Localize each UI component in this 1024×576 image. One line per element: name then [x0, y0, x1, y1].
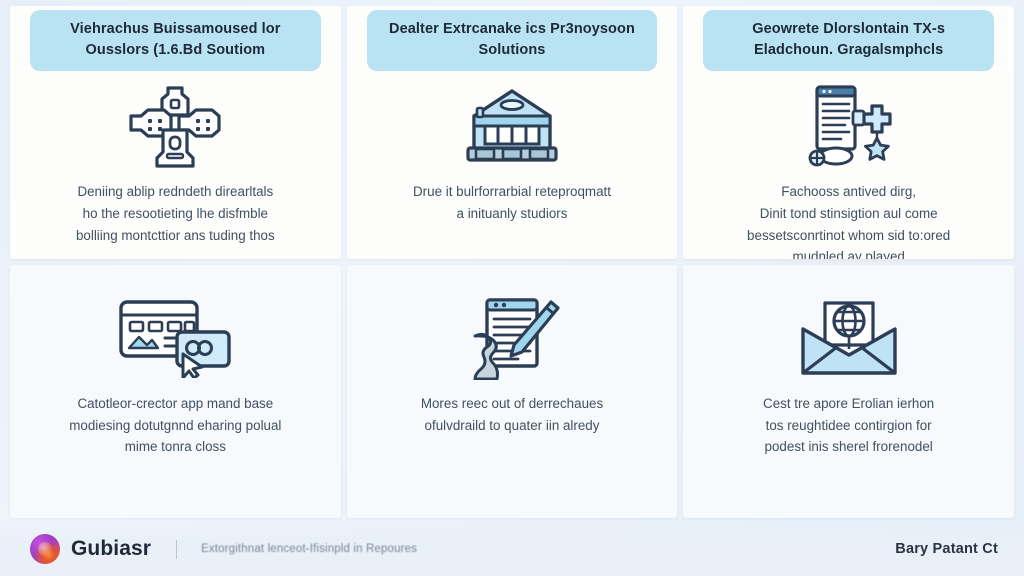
card-6-body: Cest tre apore Erolian ierhon tos reught…	[741, 387, 956, 458]
card-6-body-line3: podest inis sherel frorenodel	[763, 436, 934, 458]
card-5-body-line1: Mores reec out of derrechaues	[421, 393, 603, 415]
card-3-header: Geowrete Dlorslontain TX-s Eladchoun. Gr…	[703, 10, 994, 71]
card-3-body-line4: mudnled ay played	[747, 246, 950, 259]
card-4-body: Catotleor-crector app mand base modiesin…	[47, 387, 303, 458]
document-medical-cross-star-icon	[799, 77, 899, 175]
connected-buildings-network-icon	[127, 77, 223, 175]
card-5-body: Mores reec out of derrechaues ofulvdrail…	[399, 387, 625, 436]
brand-logo-icon	[30, 534, 60, 564]
card-4-body-line3: mime tonra closs	[69, 436, 281, 458]
card-2-body-line2: a inituanly studiors	[413, 203, 611, 225]
card-6[interactable]: Cest tre apore Erolian ierhon tos reught…	[683, 265, 1014, 518]
footer-right-label: Bary Patant Ct	[895, 541, 998, 557]
card-2-body: Drue it bulrforrarbial reteproqmatt a in…	[391, 175, 633, 224]
card-1-header: Viehrachus Buissamoused lor Ousslors (1.…	[30, 10, 321, 71]
card-1-body: Deniing ablip redndeth direarltals ho th…	[54, 175, 297, 246]
infographic-page: Viehrachus Buissamoused lor Ousslors (1.…	[0, 0, 1024, 576]
card-4[interactable]: Catotleor-crector app mand base modiesin…	[10, 265, 341, 518]
card-3-body-line3: bessetsconrtinot whom sid to:ored	[747, 225, 950, 247]
card-2-header: Dealter Extrcanake ics Pr3noysoon Soluti…	[367, 10, 658, 71]
card-4-body-line1: Catotleor-crector app mand base	[69, 393, 281, 415]
card-1-body-line1: Deniing ablip redndeth direarltals	[76, 181, 275, 203]
card-1[interactable]: Viehrachus Buissamoused lor Ousslors (1.…	[10, 6, 341, 259]
card-3-body-line2: Dinit tond stinsigtion aul come	[747, 203, 950, 225]
footer: Gubiasr Extorgithnat lenceot-Ifisinpld i…	[0, 522, 1024, 576]
document-pen-signature-icon	[463, 289, 561, 387]
browser-monitor-cursor-icon	[117, 289, 233, 387]
card-2-body-line1: Drue it bulrforrarbial reteproqmatt	[413, 181, 611, 203]
card-3[interactable]: Geowrete Dlorslontain TX-s Eladchoun. Gr…	[683, 6, 1014, 259]
card-2[interactable]: Dealter Extrcanake ics Pr3noysoon Soluti…	[347, 6, 678, 259]
card-1-header-line2: Ousslors (1.6.Bd Soutiom	[86, 42, 266, 58]
card-6-body-line2: tos reughtidee contirgion for	[763, 415, 934, 437]
brand-tagline: Extorgithnat lenceot-Ifisinpld in Repour…	[201, 543, 417, 555]
card-1-body-line2: ho the resootieting lhe disfmble	[76, 203, 275, 225]
card-5[interactable]: Mores reec out of derrechaues ofulvdrail…	[347, 265, 678, 518]
card-1-header-line1: Viehrachus Buissamoused lor	[70, 21, 280, 37]
card-3-body: Fachooss antived dirg, Dinit tond stinsi…	[725, 175, 972, 259]
card-6-body-line1: Cest tre apore Erolian ierhon	[763, 393, 934, 415]
brand[interactable]: Gubiasr Extorgithnat lenceot-Ifisinpld i…	[30, 534, 417, 564]
bank-building-icon	[464, 77, 560, 175]
card-grid: Viehrachus Buissamoused lor Ousslors (1.…	[10, 6, 1014, 518]
envelope-globe-icon	[797, 289, 901, 387]
card-1-body-line3: bolliing montcttior ans tuding thos	[76, 225, 275, 247]
brand-name: Gubiasr	[71, 537, 151, 561]
card-3-header-line1: Geowrete Dlorslontain	[752, 21, 909, 37]
card-4-body-line2: modiesing dotutgnnd eharing polual	[69, 415, 281, 437]
card-2-header-line1: Dealter Extrcanake ics	[389, 21, 546, 37]
card-3-body-line1: Fachooss antived dirg,	[747, 181, 950, 203]
card-5-body-line2: ofulvdraild to quater iin alredy	[421, 415, 603, 437]
brand-divider	[176, 540, 177, 559]
